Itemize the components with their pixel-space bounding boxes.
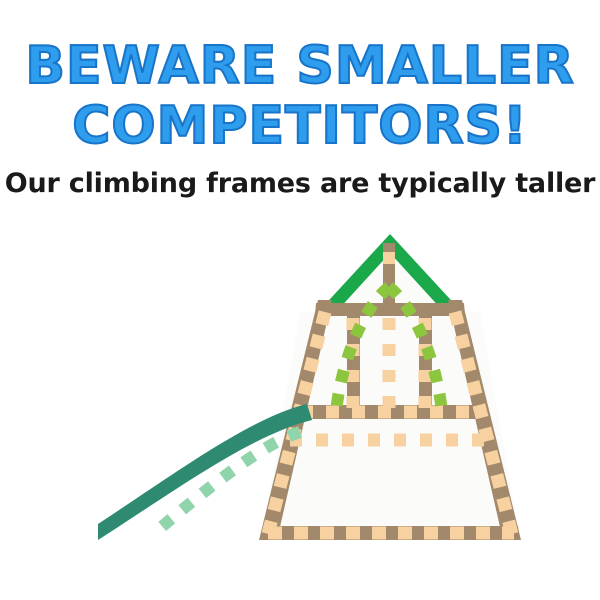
upper-beam xyxy=(315,303,465,316)
poster-canvas: BEWARE SMALLER COMPETITORS! Our climbing… xyxy=(0,0,600,600)
climbing-frame-illustration xyxy=(0,0,600,600)
